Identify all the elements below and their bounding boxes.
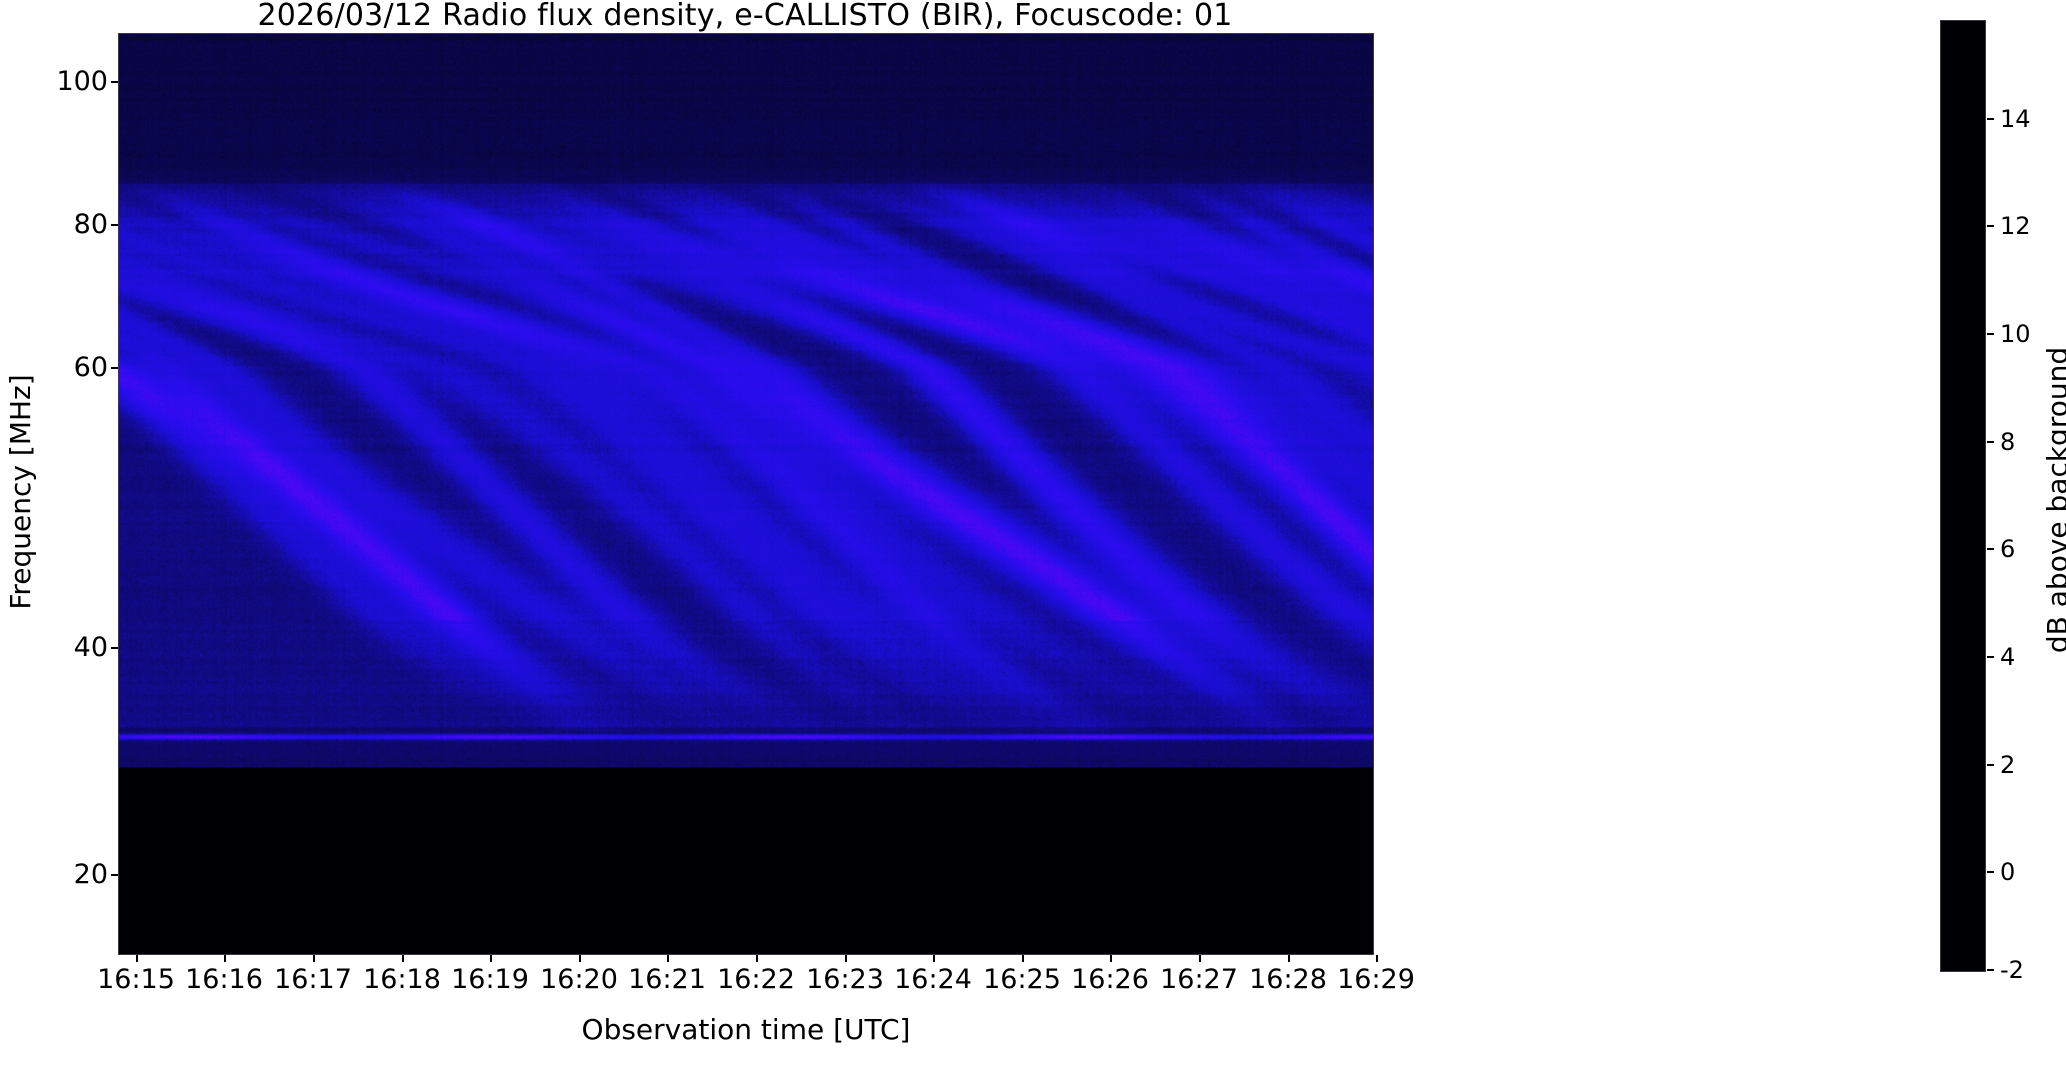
- x-tick-label: 16:16: [185, 966, 263, 993]
- colorbar-tick-mark: [1987, 764, 1994, 766]
- colorbar-tick-label: 6: [2000, 537, 2015, 561]
- x-tick-mark: [224, 955, 226, 962]
- x-tick-mark: [756, 955, 758, 962]
- x-tick-label: 16:26: [1071, 966, 1149, 993]
- y-tick-mark: [111, 647, 118, 649]
- x-tick-mark: [490, 955, 492, 962]
- x-tick-mark: [667, 955, 669, 962]
- y-tick-mark: [111, 224, 118, 226]
- colorbar[interactable]: [1940, 20, 1986, 972]
- x-tick-mark: [1110, 955, 1112, 962]
- x-axis-label: Observation time [UTC]: [118, 1016, 1374, 1044]
- x-tick-label: 16:27: [1160, 966, 1238, 993]
- y-tick-mark: [111, 367, 118, 369]
- x-tick-label: 16:17: [274, 966, 352, 993]
- x-tick-label: 16:25: [983, 966, 1061, 993]
- x-tick-label: 16:22: [717, 966, 795, 993]
- x-tick-mark: [579, 955, 581, 962]
- x-tick-mark: [845, 955, 847, 962]
- y-tick-label: 40: [74, 634, 108, 661]
- x-tick-label: 16:15: [97, 966, 175, 993]
- colorbar-tick-mark: [1987, 969, 1994, 971]
- x-tick-mark: [313, 955, 315, 962]
- x-tick-label: 16:20: [540, 966, 618, 993]
- colorbar-tick-label: 0: [2000, 860, 2015, 884]
- y-tick-label: 60: [74, 354, 108, 381]
- colorbar-tick-label: 12: [2000, 214, 2031, 238]
- colorbar-tick-mark: [1987, 441, 1994, 443]
- x-tick-label: 16:18: [363, 966, 441, 993]
- y-tick-label: 20: [74, 861, 108, 888]
- colorbar-tick-mark: [1987, 548, 1994, 550]
- x-tick-label: 16:29: [1337, 966, 1415, 993]
- x-tick-mark: [933, 955, 935, 962]
- y-tick-label: 100: [56, 68, 108, 95]
- y-tick-mark: [111, 81, 118, 83]
- x-tick-label: 16:28: [1249, 966, 1327, 993]
- y-axis-label: Frequency [MHz]: [7, 132, 35, 852]
- colorbar-tick-label: 8: [2000, 430, 2015, 454]
- x-tick-label: 16:23: [806, 966, 884, 993]
- colorbar-tick-label: 10: [2000, 322, 2031, 346]
- x-tick-mark: [1199, 955, 1201, 962]
- y-tick-label: 80: [74, 211, 108, 238]
- colorbar-tick-mark: [1987, 118, 1994, 120]
- colorbar-gradient: [1941, 21, 1985, 971]
- colorbar-tick-label: 14: [2000, 107, 2031, 131]
- x-tick-mark: [136, 955, 138, 962]
- y-tick-mark: [111, 874, 118, 876]
- x-tick-label: 16:21: [628, 966, 706, 993]
- colorbar-tick-mark: [1987, 656, 1994, 658]
- x-tick-mark: [1376, 955, 1378, 962]
- x-tick-label: 16:19: [451, 966, 529, 993]
- x-tick-label: 16:24: [894, 966, 972, 993]
- colorbar-tick-label: 2: [2000, 753, 2015, 777]
- colorbar-tick-mark: [1987, 871, 1994, 873]
- x-tick-mark: [1022, 955, 1024, 962]
- colorbar-label: dB above background: [2044, 190, 2066, 810]
- figure-title: 2026/03/12 Radio flux density, e-CALLIST…: [0, 0, 1490, 34]
- x-tick-mark: [402, 955, 404, 962]
- colorbar-tick-mark: [1987, 333, 1994, 335]
- spectrogram-plot-area[interactable]: [118, 33, 1374, 955]
- colorbar-tick-mark: [1987, 225, 1994, 227]
- spectrogram-figure: 2026/03/12 Radio flux density, e-CALLIST…: [0, 0, 2066, 1067]
- x-tick-mark: [1288, 955, 1290, 962]
- colorbar-tick-label: 4: [2000, 645, 2015, 669]
- colorbar-tick-label: -2: [2000, 958, 2024, 982]
- spectrogram-image: [119, 34, 1373, 954]
